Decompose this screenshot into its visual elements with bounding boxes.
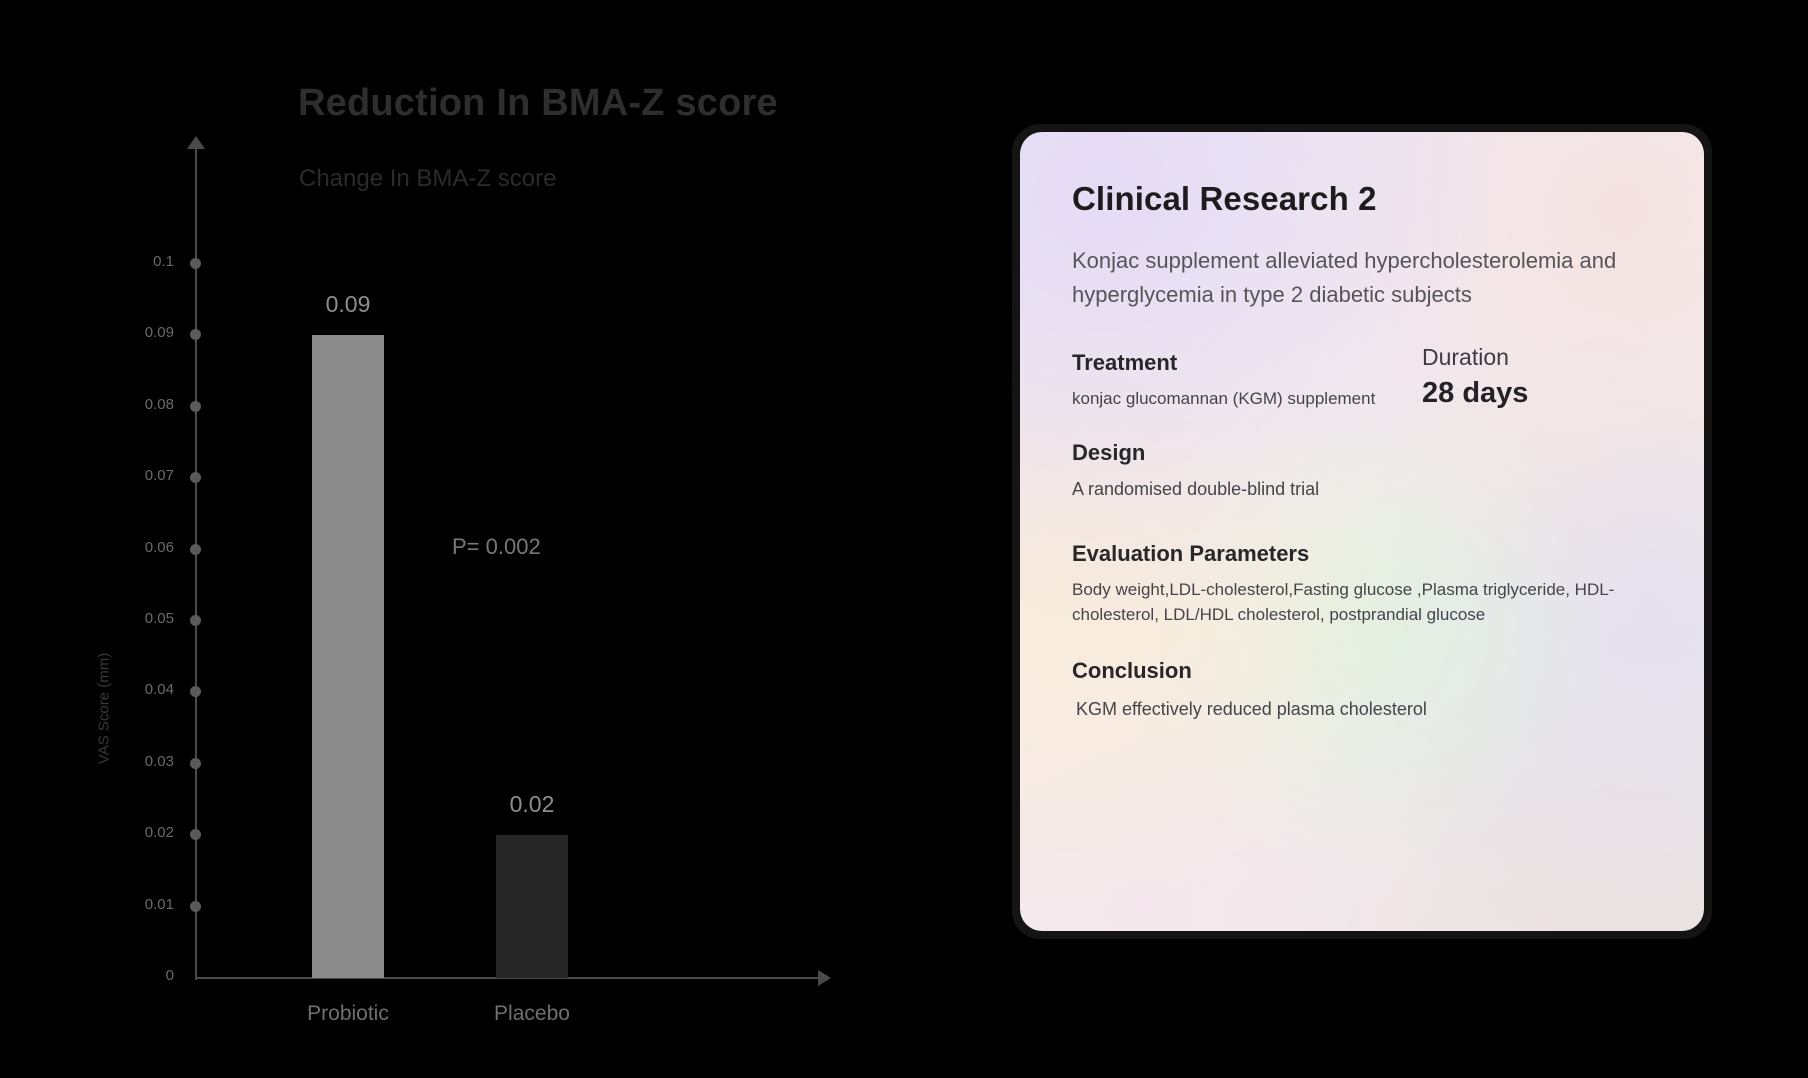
evaluation-body: Body weight,LDL-cholesterol,Fasting gluc… bbox=[1072, 577, 1652, 628]
y-tick: 0.09 bbox=[0, 334, 200, 335]
p-value-annotation: P= 0.002 bbox=[452, 534, 541, 560]
y-tick: 0.08 bbox=[0, 406, 200, 407]
y-tick-label: 0 bbox=[166, 967, 174, 984]
y-tick: 0 bbox=[0, 977, 200, 978]
bar-placebo: 0.02Placebo bbox=[496, 835, 568, 978]
treatment-body: konjac glucomannan (KGM) supplement bbox=[1072, 386, 1422, 412]
conclusion-block: Conclusion KGM effectively reduced plasm… bbox=[1072, 658, 1652, 723]
y-tick-label: 0.09 bbox=[145, 324, 174, 341]
card-title: Clinical Research 2 bbox=[1072, 180, 1652, 218]
y-tick-label: 0.03 bbox=[145, 753, 174, 770]
card-content: Clinical Research 2 Konjac supplement al… bbox=[1020, 132, 1704, 931]
y-tick-dot-icon bbox=[190, 615, 201, 626]
y-tick-dot-icon bbox=[190, 686, 201, 697]
x-axis-category-label: Probiotic bbox=[307, 1002, 389, 1026]
bar-value-label: 0.09 bbox=[326, 291, 371, 318]
y-tick: 0.04 bbox=[0, 691, 200, 692]
y-axis-label: VAS Score (mm) bbox=[96, 599, 113, 819]
bar-chart-panel: Reduction In BMA-Z score Change In BMA-Z… bbox=[0, 0, 980, 1078]
y-tick-dot-icon bbox=[190, 901, 201, 912]
duration-heading: Duration bbox=[1422, 344, 1652, 371]
y-tick: 0.05 bbox=[0, 620, 200, 621]
duration-value: 28 days bbox=[1422, 377, 1652, 410]
evaluation-heading: Evaluation Parameters bbox=[1072, 541, 1652, 567]
clinical-research-card: Clinical Research 2 Konjac supplement al… bbox=[1012, 124, 1712, 939]
y-axis-arrow-icon bbox=[187, 136, 205, 149]
x-axis-category-label: Placebo bbox=[494, 1002, 570, 1026]
screen-root: Reduction In BMA-Z score Change In BMA-Z… bbox=[0, 0, 1808, 1078]
chart-subtitle: Change In BMA-Z score bbox=[299, 165, 556, 193]
y-tick-label: 0.1 bbox=[153, 253, 174, 270]
y-tick: 0.07 bbox=[0, 477, 200, 478]
y-tick-label: 0.07 bbox=[145, 467, 174, 484]
design-heading: Design bbox=[1072, 440, 1652, 466]
evaluation-parameters-block: Evaluation Parameters Body weight,LDL-ch… bbox=[1072, 541, 1652, 628]
bar-probiotic: 0.09Probiotic bbox=[312, 335, 384, 978]
conclusion-heading: Conclusion bbox=[1072, 658, 1652, 684]
y-tick: 0.06 bbox=[0, 549, 200, 550]
y-tick-dot-icon bbox=[190, 401, 201, 412]
y-tick-dot-icon bbox=[190, 258, 201, 269]
y-tick-dot-icon bbox=[190, 329, 201, 340]
y-tick-dot-icon bbox=[190, 472, 201, 483]
y-tick: 0.1 bbox=[0, 263, 200, 264]
treatment-duration-row: Treatment konjac glucomannan (KGM) suppl… bbox=[1072, 344, 1652, 412]
y-tick: 0.03 bbox=[0, 763, 200, 764]
y-tick-label: 0.01 bbox=[145, 896, 174, 913]
treatment-block: Treatment konjac glucomannan (KGM) suppl… bbox=[1072, 344, 1422, 412]
card-subtitle: Konjac supplement alleviated hypercholes… bbox=[1072, 244, 1652, 312]
y-tick-label: 0.06 bbox=[145, 539, 174, 556]
design-block: Design A randomised double-blind trial bbox=[1072, 440, 1652, 503]
card-gradient-surface: Clinical Research 2 Konjac supplement al… bbox=[1020, 132, 1704, 931]
y-tick-label: 0.02 bbox=[145, 824, 174, 841]
duration-block: Duration 28 days bbox=[1422, 344, 1652, 410]
y-tick: 0.02 bbox=[0, 834, 200, 835]
conclusion-body: KGM effectively reduced plasma cholester… bbox=[1072, 696, 1652, 723]
y-tick-dot-icon bbox=[190, 758, 201, 769]
chart-title: Reduction In BMA-Z score bbox=[298, 82, 778, 125]
y-tick-label: 0.05 bbox=[145, 610, 174, 627]
treatment-heading: Treatment bbox=[1072, 350, 1422, 376]
y-tick-label: 0.04 bbox=[145, 681, 174, 698]
y-tick-dot-icon bbox=[190, 829, 201, 840]
y-tick-label: 0.08 bbox=[145, 396, 174, 413]
bar-value-label: 0.02 bbox=[510, 791, 555, 818]
y-tick: 0.01 bbox=[0, 906, 200, 907]
x-axis-arrow-icon bbox=[818, 970, 831, 986]
y-tick-dot-icon bbox=[190, 544, 201, 555]
design-body: A randomised double-blind trial bbox=[1072, 476, 1652, 503]
